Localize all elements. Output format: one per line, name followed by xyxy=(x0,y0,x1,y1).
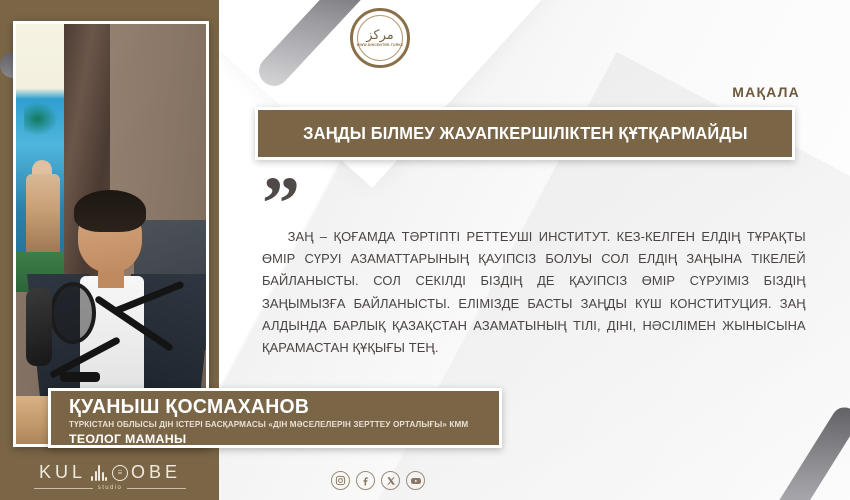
photo-hair xyxy=(74,190,146,232)
speaker-name: ҚУАНЫШ ҚОСМАХАНОВ xyxy=(69,396,486,418)
organization-logo: مركز WWW.DINCENTRE-TURKZ xyxy=(350,8,410,68)
footer-logo-part1: KUL xyxy=(39,462,86,483)
photo-pop-filter xyxy=(50,282,96,344)
article-body-text: ЗАҢ – ҚОҒАМДА ТӘРТІПТІ РЕТТЕУШІ ИНСТИТУТ… xyxy=(262,226,806,359)
speaker-nameplate: ҚУАНЫШ ҚОСМАХАНОВ ТҮРКІСТАН ОБЛЫСЫ ДІН І… xyxy=(48,388,502,448)
headline-text: ЗАҢДЫ БІЛМЕУ ЖАУАПКЕРШІЛІКТЕН ҚҰТҚАРМАЙД… xyxy=(303,123,747,144)
tagline-rule-right xyxy=(127,488,186,489)
x-twitter-icon[interactable] xyxy=(381,471,400,490)
tagline-rule-left xyxy=(34,488,93,489)
instagram-icon[interactable] xyxy=(331,471,350,490)
speaker-photo-frame xyxy=(13,21,209,447)
poster-canvas: KUL ☰ OBE studio مركز WWW.DINCENTRE-TURK… xyxy=(0,0,850,500)
speaker-role: ТЕОЛОГ МАМАНЫ xyxy=(69,431,499,447)
facebook-icon[interactable] xyxy=(356,471,375,490)
organization-logo-caption: WWW.DINCENTRE-TURKZ xyxy=(357,43,404,47)
footer-logo: KUL ☰ OBE studio xyxy=(34,462,186,491)
photo-poster-accent xyxy=(24,102,58,136)
social-links xyxy=(331,471,425,490)
youtube-icon[interactable] xyxy=(406,471,425,490)
footer-logo-tagline-row: studio xyxy=(34,485,186,491)
footer-logo-row: KUL ☰ OBE xyxy=(39,462,181,483)
kicker-label: МАҚАЛА xyxy=(732,84,800,100)
speaker-photo xyxy=(16,24,206,444)
arabic-calligraphy-icon: مركز xyxy=(366,29,394,42)
photo-microphone xyxy=(26,288,52,366)
medallion-small-icon: ☰ xyxy=(112,465,128,481)
photo-mic-stand xyxy=(60,372,100,382)
footer-logo-tagline: studio xyxy=(98,485,122,491)
photo-monument xyxy=(26,174,60,252)
speaker-organization: ТҮРКІСТАН ОБЛЫСЫ ДІН ІСТЕРІ БАСҚАРМАСЫ «… xyxy=(69,418,495,431)
footer-logo-part2: OBE xyxy=(131,462,181,483)
headline-band: ЗАҢДЫ БІЛМЕУ ЖАУАПКЕРШІЛІКТЕН ҚҰТҚАРМАЙД… xyxy=(255,107,795,160)
waveform-icon xyxy=(91,465,107,481)
organization-logo-inner: مركز WWW.DINCENTRE-TURKZ xyxy=(357,15,403,61)
